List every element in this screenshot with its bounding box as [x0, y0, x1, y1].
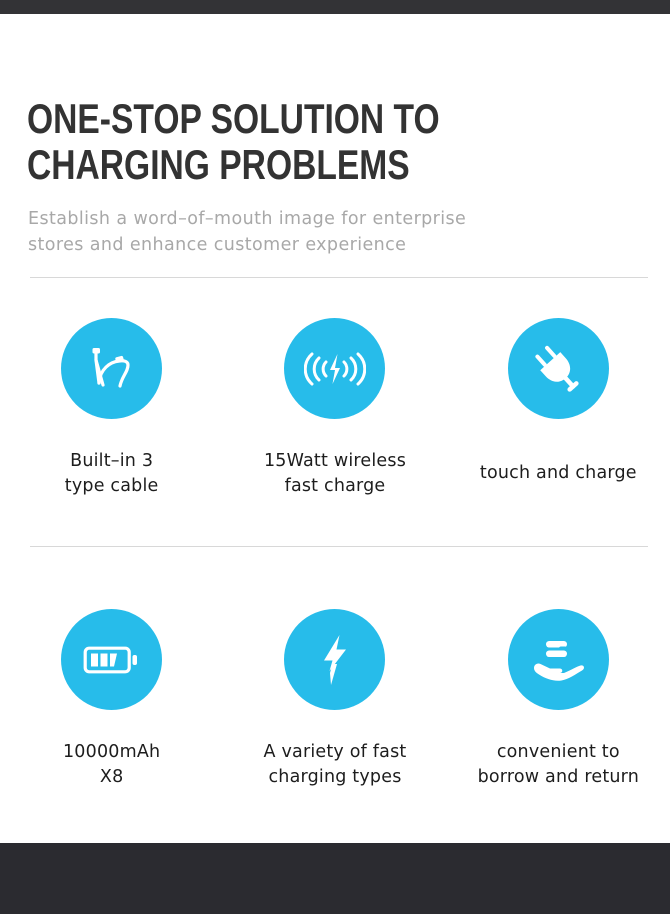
- feature-item-built-in-cable[interactable]: Built–in 3 type cable: [0, 318, 223, 499]
- hand-holding-stack-icon: [530, 637, 586, 683]
- page-subtitle: Establish a word–of–mouth image for ente…: [28, 206, 628, 258]
- feature-label: A variety of fast charging types: [264, 740, 407, 790]
- feature-item-touch-and-charge[interactable]: touch and charge: [447, 318, 670, 499]
- icon-badge: [284, 609, 385, 710]
- feature-label: 15Watt wireless fast charge: [264, 449, 406, 499]
- icon-badge: [508, 318, 609, 419]
- three-cable-connector-icon: [84, 345, 140, 393]
- feature-label: touch and charge: [480, 461, 637, 486]
- feature-item-borrow-and-return[interactable]: convenient to borrow and return: [447, 609, 670, 790]
- promo-feature-panel: ONE-STOP SOLUTION TO CHARGING PROBLEMS E…: [0, 0, 670, 914]
- feature-item-wireless-charge[interactable]: 15Watt wireless fast charge: [223, 318, 446, 499]
- feature-item-fast-charging-types[interactable]: A variety of fast charging types: [223, 609, 446, 790]
- feature-label: Built–in 3 type cable: [65, 449, 159, 499]
- feature-label: 10000mAh X8: [63, 740, 160, 790]
- top-chrome-band: [0, 0, 670, 14]
- divider-bottom: [30, 546, 648, 547]
- feature-row-1: Built–in 3 type cable: [0, 318, 670, 499]
- wireless-fast-charge-icon: [304, 349, 366, 389]
- battery-level-icon: [83, 643, 141, 677]
- divider-top: [30, 277, 648, 278]
- icon-badge: [284, 318, 385, 419]
- lightning-bolt-icon: [318, 633, 352, 687]
- feature-item-battery-capacity[interactable]: 10000mAh X8: [0, 609, 223, 790]
- icon-badge: [61, 609, 162, 710]
- page-title: ONE-STOP SOLUTION TO CHARGING PROBLEMS: [27, 96, 523, 188]
- power-plug-icon: [531, 342, 585, 396]
- bottom-chrome-band: [0, 843, 670, 914]
- feature-row-2: 10000mAh X8 A variety of fast charging t…: [0, 609, 670, 790]
- icon-badge: [508, 609, 609, 710]
- icon-badge: [61, 318, 162, 419]
- feature-label: convenient to borrow and return: [478, 740, 640, 790]
